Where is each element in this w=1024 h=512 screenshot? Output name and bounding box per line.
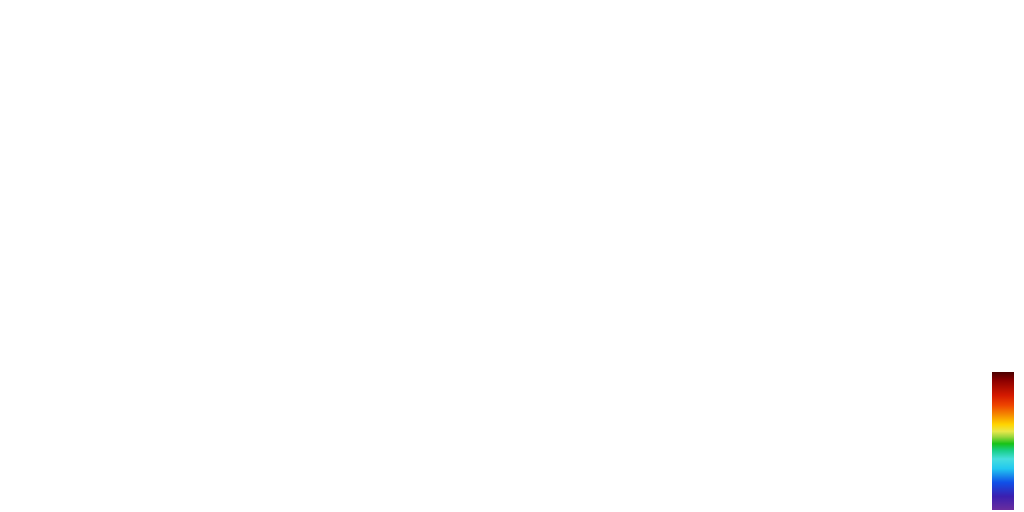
elevation-profile-graphic (8, 55, 990, 375)
climb-profile-page (0, 0, 1024, 512)
footer-branding (0, 440, 1024, 512)
x-axis-distance (0, 378, 1024, 402)
profile-plot-area[interactable] (8, 55, 990, 375)
elevation-chart[interactable] (0, 55, 1024, 380)
